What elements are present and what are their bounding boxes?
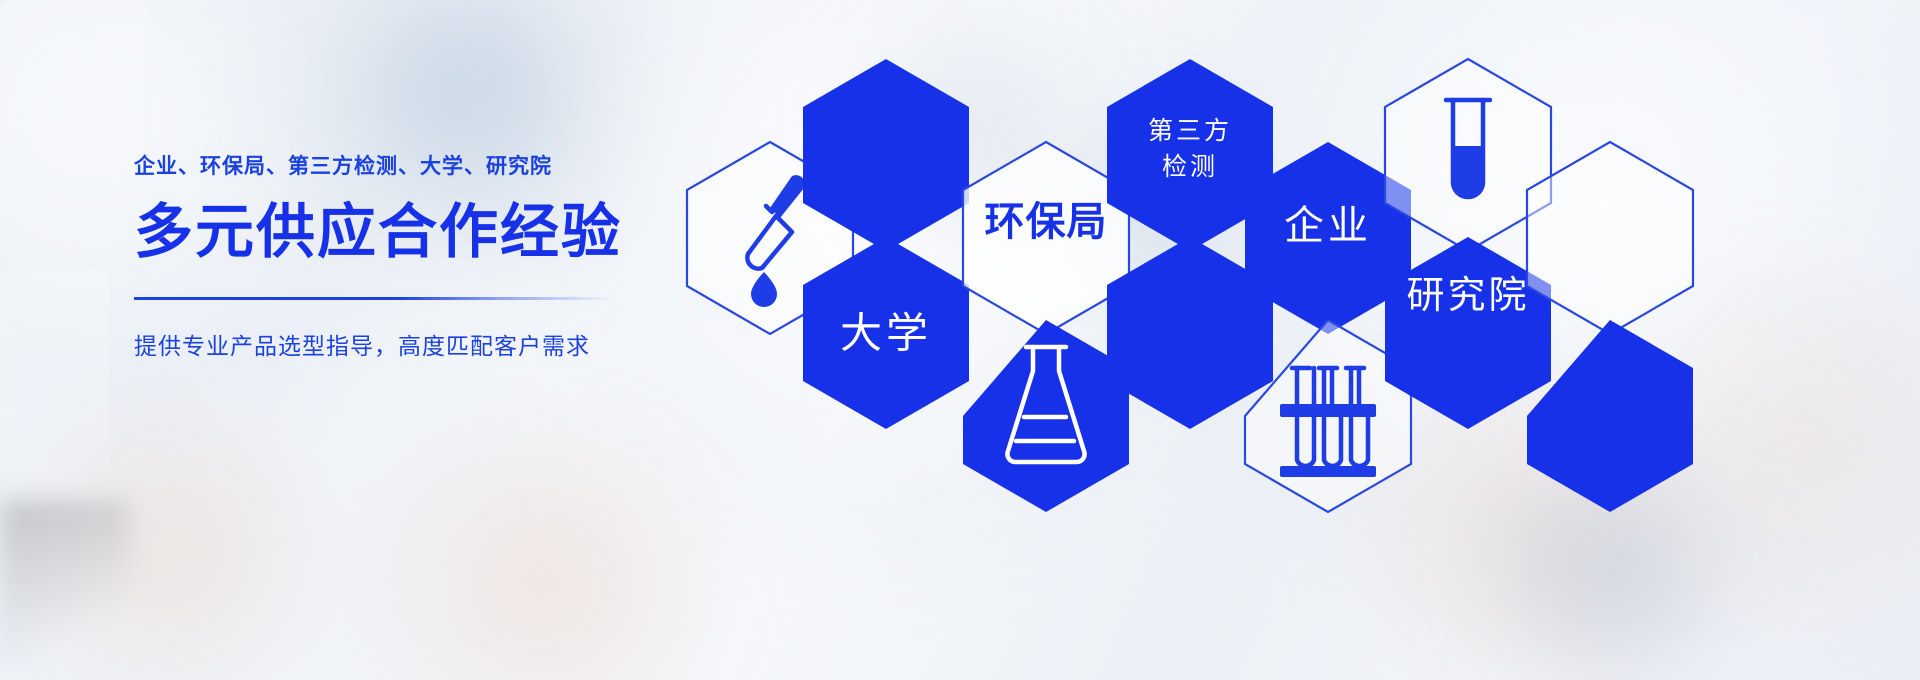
banner-headline: 多元供应合作经验 [134, 201, 654, 264]
hexagon-edge-filled[interactable] [1527, 320, 1693, 512]
banner-text-block: 企业、环保局、第三方检测、大学、研究院 多元供应合作经验 提供专业产品选型指导，… [134, 150, 654, 361]
hexagon-label-epa-bureau: 环保局 [985, 200, 1108, 244]
promo-banner: 大学 环保局 第三方 检测 [0, 0, 1920, 680]
banner-subline: 提供专业产品选型指导，高度匹配客户需求 [134, 327, 654, 361]
banner-divider [134, 297, 614, 300]
hexagon-label-university: 大学 [840, 310, 932, 357]
hexagon-label-institute: 研究院 [1406, 275, 1529, 317]
hexagon-label-enterprise: 企业 [1284, 204, 1372, 248]
hexagon-epa-bureau[interactable]: 环保局 [963, 142, 1129, 334]
banner-eyebrow: 企业、环保局、第三方检测、大学、研究院 [134, 150, 654, 180]
hexagon-label-third-party-line2: 检测 [1162, 153, 1218, 181]
hexagon-label-third-party-line1: 第三方 [1148, 117, 1232, 145]
hexagon-flask[interactable] [963, 320, 1129, 512]
